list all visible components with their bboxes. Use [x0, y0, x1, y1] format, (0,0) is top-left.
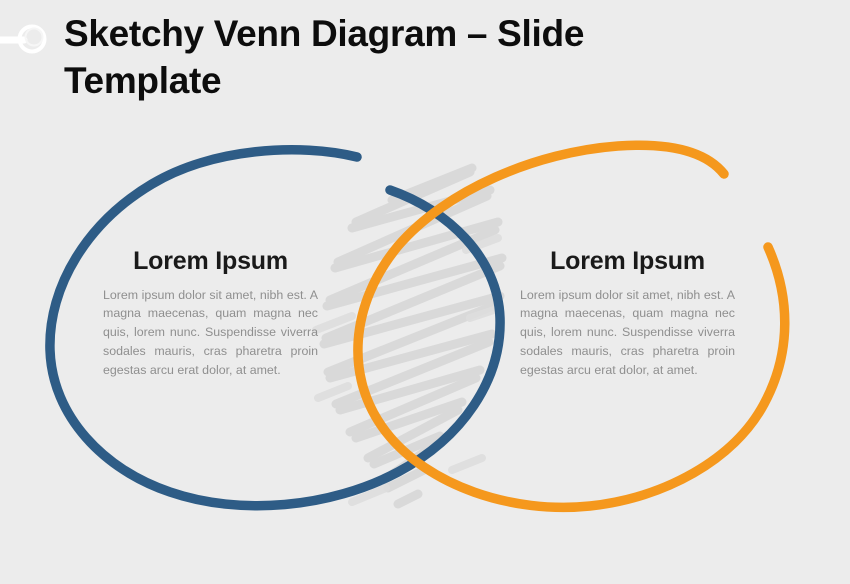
left-text-block: Lorem Ipsum Lorem ipsum dolor sit amet, … [103, 248, 318, 380]
right-block-heading: Lorem Ipsum [520, 248, 735, 276]
left-block-body: Lorem ipsum dolor sit amet, nibh est. A … [103, 286, 318, 380]
right-text-block: Lorem Ipsum Lorem ipsum dolor sit amet, … [520, 248, 735, 380]
left-block-heading: Lorem Ipsum [103, 248, 318, 276]
right-block-body: Lorem ipsum dolor sit amet, nibh est. A … [520, 286, 735, 380]
slide-canvas: Sketchy Venn Diagram – Slide Template [0, 0, 850, 584]
